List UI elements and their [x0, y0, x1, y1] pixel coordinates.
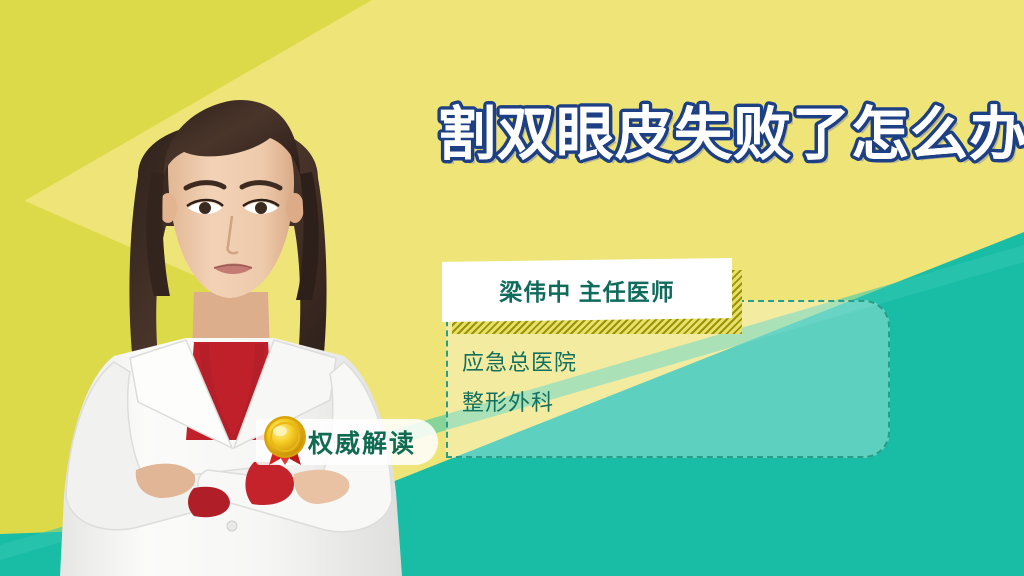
medal-scallops [264, 416, 306, 458]
hospital-label: 应急总医院 [462, 352, 822, 374]
doctor-portrait-photo [18, 56, 438, 576]
ear-right [286, 193, 304, 223]
page-title: 割双眼皮失败了怎么办 割双眼皮失败了怎么办 割双眼皮失败了怎么办 [436, 96, 1011, 178]
title-fill-text: 割双眼皮失败了怎么办 [438, 102, 1024, 167]
authority-badge: 权威解读 [256, 419, 438, 465]
pupil-left [199, 202, 211, 214]
coat-button-2 [227, 521, 237, 531]
video-cover: 割双眼皮失败了怎么办 割双眼皮失败了怎么办 割双眼皮失败了怎么办 梁伟中 主任医… [0, 0, 1024, 576]
gold-medal-ribbon-icon [256, 411, 318, 473]
name-card-surface: 梁伟中 主任医师 [442, 258, 732, 322]
doctor-affiliation: 应急总医院 整形外科 [462, 352, 822, 432]
authority-badge-label: 权威解读 [308, 424, 416, 460]
medal-highlight [273, 426, 287, 436]
pupil-right [255, 202, 267, 214]
doctor-name-card: 梁伟中 主任医师 [442, 258, 742, 334]
department-label: 整形外科 [462, 392, 822, 414]
doctor-name-label: 梁伟中 主任医师 [499, 273, 674, 307]
